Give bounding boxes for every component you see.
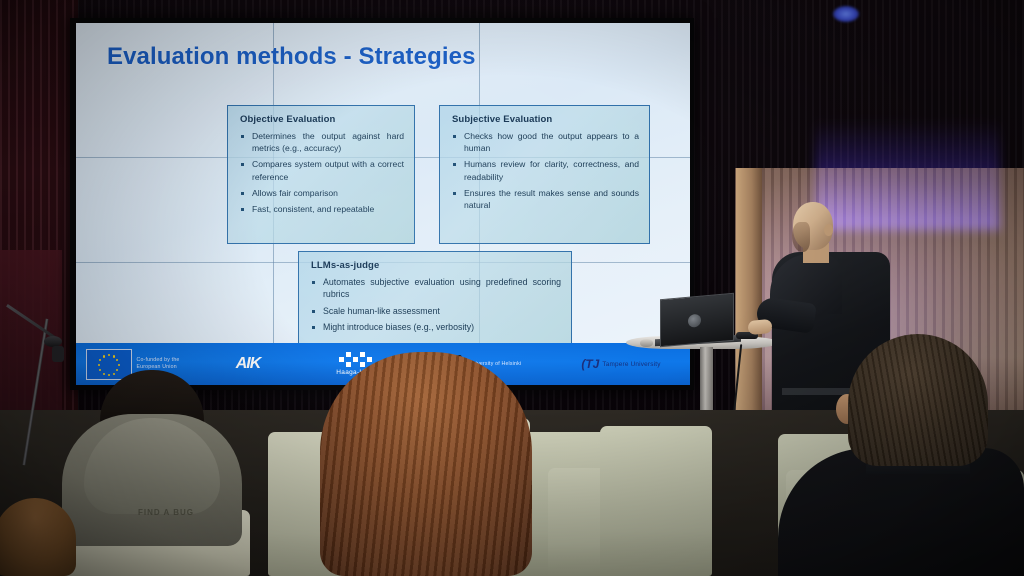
aik-logo-label: AIK <box>236 355 261 373</box>
ceiling-spotlight-icon <box>833 6 859 22</box>
llms-as-judge-title: LLMs-as-judge <box>311 260 561 271</box>
list-item: Compares system output with a correct re… <box>238 158 404 182</box>
objective-evaluation-bullets: Determines the output against hard metri… <box>238 130 404 215</box>
eu-flag-icon <box>86 349 132 380</box>
blue-uplight <box>815 120 1000 230</box>
subjective-evaluation-box: Subjective Evaluation Checks how good th… <box>439 105 650 244</box>
list-item: Humans review for clarity, correctness, … <box>450 158 639 182</box>
llms-as-judge-bullets: Automates subjective evaluation using pr… <box>309 276 561 334</box>
wood-post <box>736 168 762 438</box>
subjective-evaluation-title: Subjective Evaluation <box>452 114 639 125</box>
presentation-slide: Evaluation methods - Strategies Objectiv… <box>76 23 690 385</box>
tampere-university-logo: (TJ Tampere University <box>552 343 690 385</box>
slide-title: Evaluation methods - Strategies <box>107 43 476 71</box>
tampere-mark-icon: (TJ <box>581 357 599 371</box>
laptop-lid-logo-icon <box>688 314 701 328</box>
subjective-evaluation-bullets: Checks how good the output appears to a … <box>450 130 639 211</box>
list-item: Checks how good the output appears to a … <box>450 130 639 154</box>
audience-member-long-hair <box>320 352 532 576</box>
presenter-ear <box>824 224 833 236</box>
list-item: Might introduce biases (e.g., verbosity) <box>309 321 561 333</box>
list-item: Automates subjective evaluation using pr… <box>309 276 561 301</box>
list-item: Determines the output against hard metri… <box>238 130 404 154</box>
presentation-photo: Evaluation methods - Strategies Objectiv… <box>0 0 1024 576</box>
objective-evaluation-title: Objective Evaluation <box>240 114 404 125</box>
audience-member-far-left <box>0 498 76 576</box>
list-item: Scale human-like assessment <box>309 305 561 317</box>
presenter-face <box>792 222 810 252</box>
aik-logo: AIK <box>196 343 300 385</box>
eu-stars-icon <box>99 354 119 374</box>
list-item: Fast, consistent, and repeatable <box>238 203 404 215</box>
llms-as-judge-box: LLMs-as-judge Automates subjective evalu… <box>298 251 572 356</box>
chair <box>600 426 712 576</box>
eu-flag-logo-label: Co-funded by the European Union <box>137 357 195 371</box>
laptop-screen <box>660 293 734 347</box>
list-item: Allows fair comparison <box>238 187 404 199</box>
objective-evaluation-box: Objective Evaluation Determines the outp… <box>227 105 415 244</box>
hoodie-print-text: FIND A BUG <box>106 508 226 517</box>
computer-mouse <box>640 339 653 347</box>
audience-member-front-right-head <box>848 334 988 466</box>
tampere-university-logo-label: Tampere University <box>602 361 660 368</box>
list-item: Ensures the result makes sense and sound… <box>450 187 639 211</box>
microphone-clamp <box>52 346 64 362</box>
